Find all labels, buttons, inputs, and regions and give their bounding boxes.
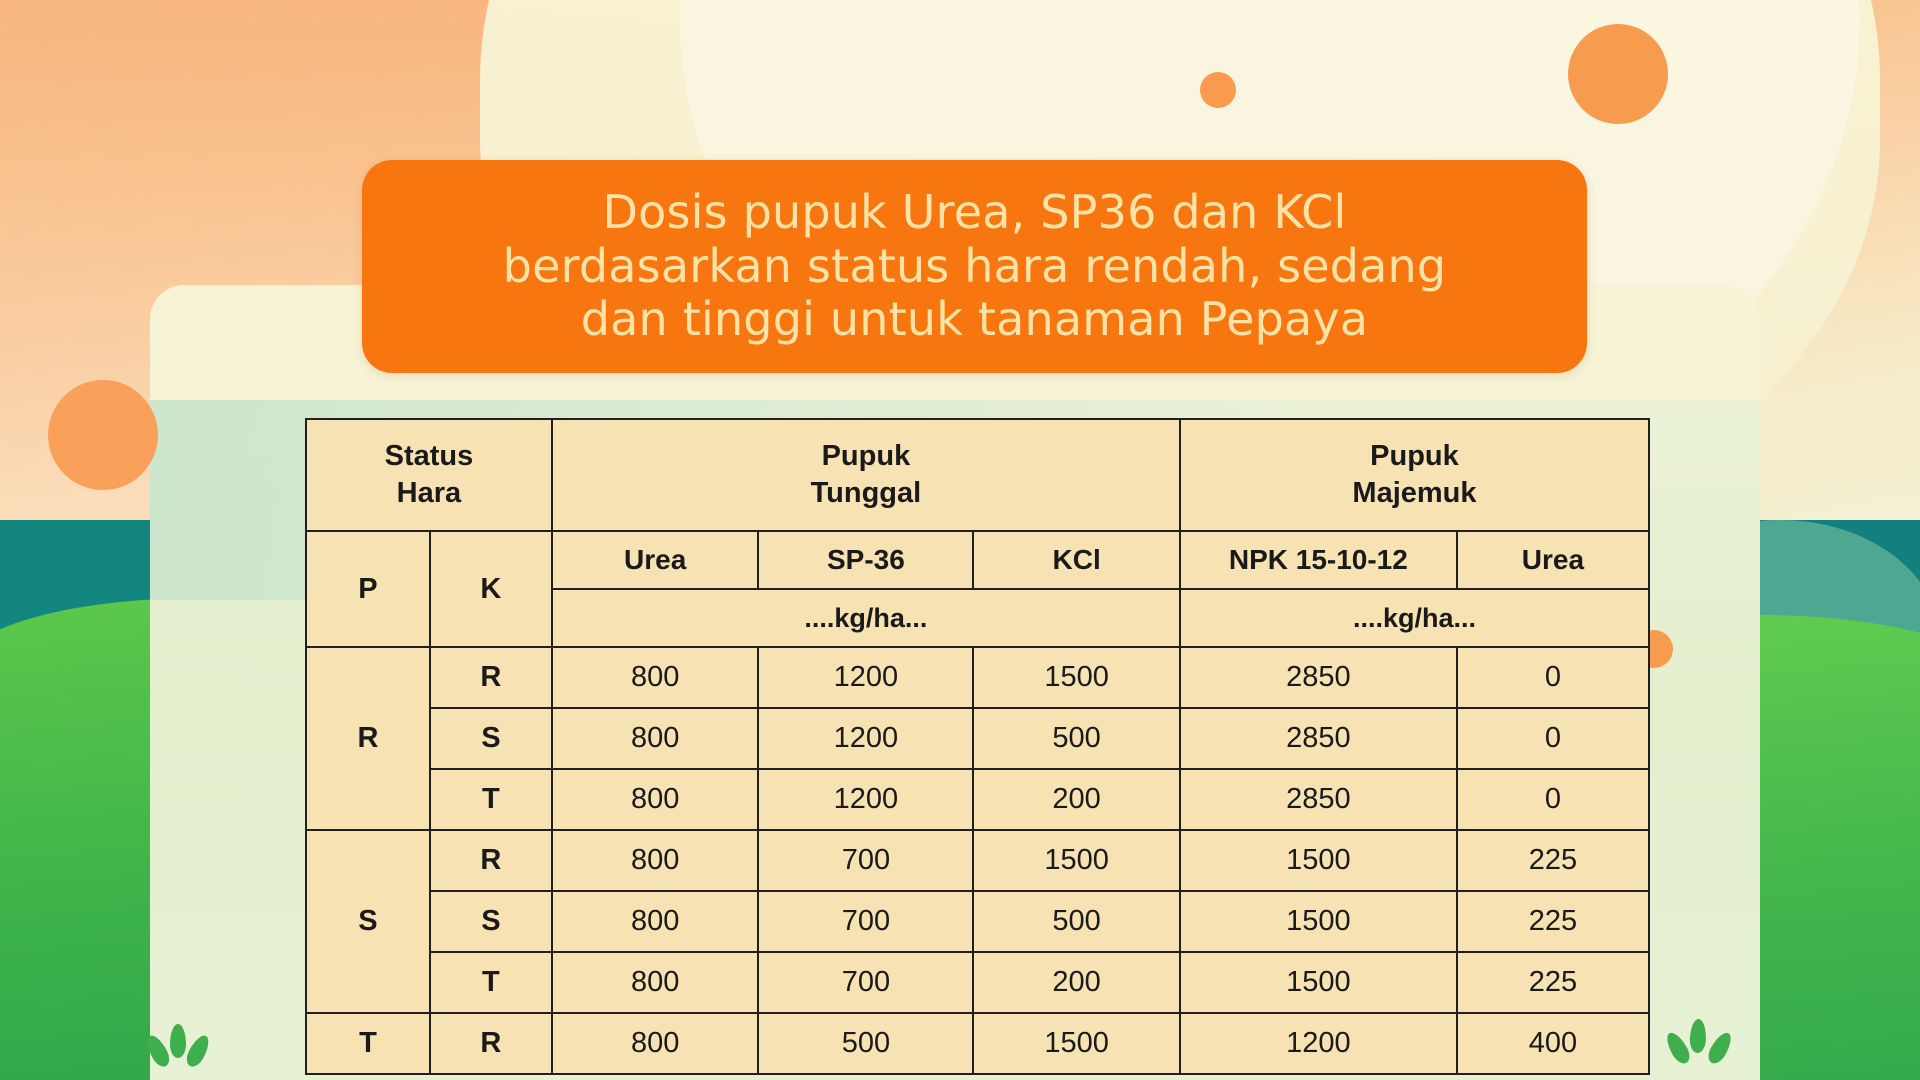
cell-urea: 800 [552, 1013, 759, 1074]
cell-status-k: R [430, 1013, 552, 1074]
cell-kcl: 1500 [973, 1013, 1180, 1074]
table-row: TR80050015001200400 [306, 1013, 1649, 1074]
fertilizer-dose-table: Status Hara Pupuk Tunggal Pupuk Majemuk … [305, 418, 1650, 1075]
cell-npk: 2850 [1180, 708, 1457, 769]
cell-urea2: 225 [1457, 830, 1649, 891]
cell-urea2: 225 [1457, 952, 1649, 1013]
table-row: S800120050028500 [306, 708, 1649, 769]
table-row: RR8001200150028500 [306, 647, 1649, 708]
header-col-sp36: SP-36 [758, 531, 973, 589]
cell-kcl: 200 [973, 769, 1180, 830]
cell-urea2: 0 [1457, 708, 1649, 769]
table-body: RR8001200150028500S800120050028500T80012… [306, 647, 1649, 1074]
cell-status-k: S [430, 891, 552, 952]
cell-status-k: S [430, 708, 552, 769]
header-col-urea2: Urea [1457, 531, 1649, 589]
header-status-hara: Status Hara [306, 419, 552, 531]
cell-sp36: 700 [758, 830, 973, 891]
table-group-header-row: Status Hara Pupuk Tunggal Pupuk Majemuk [306, 419, 1649, 531]
table-row: T800120020028500 [306, 769, 1649, 830]
table-row: T8007002001500225 [306, 952, 1649, 1013]
cell-urea2: 0 [1457, 647, 1649, 708]
cell-urea: 800 [552, 830, 759, 891]
cell-urea: 800 [552, 708, 759, 769]
infographic-canvas: Dosis pupuk Urea, SP36 dan KCl berdasark… [0, 0, 1920, 1080]
cell-sp36: 500 [758, 1013, 973, 1074]
cell-urea: 800 [552, 647, 759, 708]
cell-status-p: T [306, 1013, 430, 1074]
unit-majemuk: ....kg/ha... [1180, 589, 1649, 647]
cell-npk: 2850 [1180, 647, 1457, 708]
table-row: S8007005001500225 [306, 891, 1649, 952]
cell-npk: 2850 [1180, 769, 1457, 830]
cell-status-k: T [430, 769, 552, 830]
header-pupuk-majemuk: Pupuk Majemuk [1180, 419, 1649, 531]
cell-urea: 800 [552, 891, 759, 952]
cell-kcl: 200 [973, 952, 1180, 1013]
cell-kcl: 1500 [973, 647, 1180, 708]
cell-sp36: 1200 [758, 708, 973, 769]
cell-sp36: 1200 [758, 647, 973, 708]
cell-kcl: 1500 [973, 830, 1180, 891]
header-pupuk-tunggal: Pupuk Tunggal [552, 419, 1180, 531]
cell-status-p: R [306, 647, 430, 830]
cell-urea2: 0 [1457, 769, 1649, 830]
cell-status-k: R [430, 647, 552, 708]
cell-sp36: 1200 [758, 769, 973, 830]
header-col-npk: NPK 15-10-12 [1180, 531, 1457, 589]
header-col-k: K [430, 531, 552, 647]
cell-status-p: S [306, 830, 430, 1013]
cell-npk: 1200 [1180, 1013, 1457, 1074]
cell-kcl: 500 [973, 708, 1180, 769]
cell-urea2: 225 [1457, 891, 1649, 952]
cell-kcl: 500 [973, 891, 1180, 952]
cell-status-k: R [430, 830, 552, 891]
cell-status-k: T [430, 952, 552, 1013]
header-col-p: P [306, 531, 430, 647]
cell-urea2: 400 [1457, 1013, 1649, 1074]
cell-npk: 1500 [1180, 830, 1457, 891]
header-col-kcl: KCl [973, 531, 1180, 589]
page-title: Dosis pupuk Urea, SP36 dan KCl berdasark… [473, 186, 1477, 346]
plant-sprig-left-icon [140, 1010, 220, 1080]
table-sub-header-row: P K Urea SP-36 KCl NPK 15-10-12 Urea [306, 531, 1649, 589]
cell-urea: 800 [552, 769, 759, 830]
decorative-circle-top-right [1568, 24, 1668, 124]
decorative-circle-left [48, 380, 158, 490]
cell-npk: 1500 [1180, 952, 1457, 1013]
decorative-circle-top-mid [1200, 72, 1236, 108]
header-col-urea: Urea [552, 531, 759, 589]
cell-urea: 800 [552, 952, 759, 1013]
fertilizer-dose-table-wrapper: Status Hara Pupuk Tunggal Pupuk Majemuk … [305, 418, 1650, 1075]
title-banner: Dosis pupuk Urea, SP36 dan KCl berdasark… [362, 160, 1587, 373]
plant-sprig-right-icon [1660, 1005, 1740, 1080]
cell-sp36: 700 [758, 952, 973, 1013]
table-row: SR80070015001500225 [306, 830, 1649, 891]
unit-tunggal: ....kg/ha... [552, 589, 1180, 647]
cell-npk: 1500 [1180, 891, 1457, 952]
cell-sp36: 700 [758, 891, 973, 952]
